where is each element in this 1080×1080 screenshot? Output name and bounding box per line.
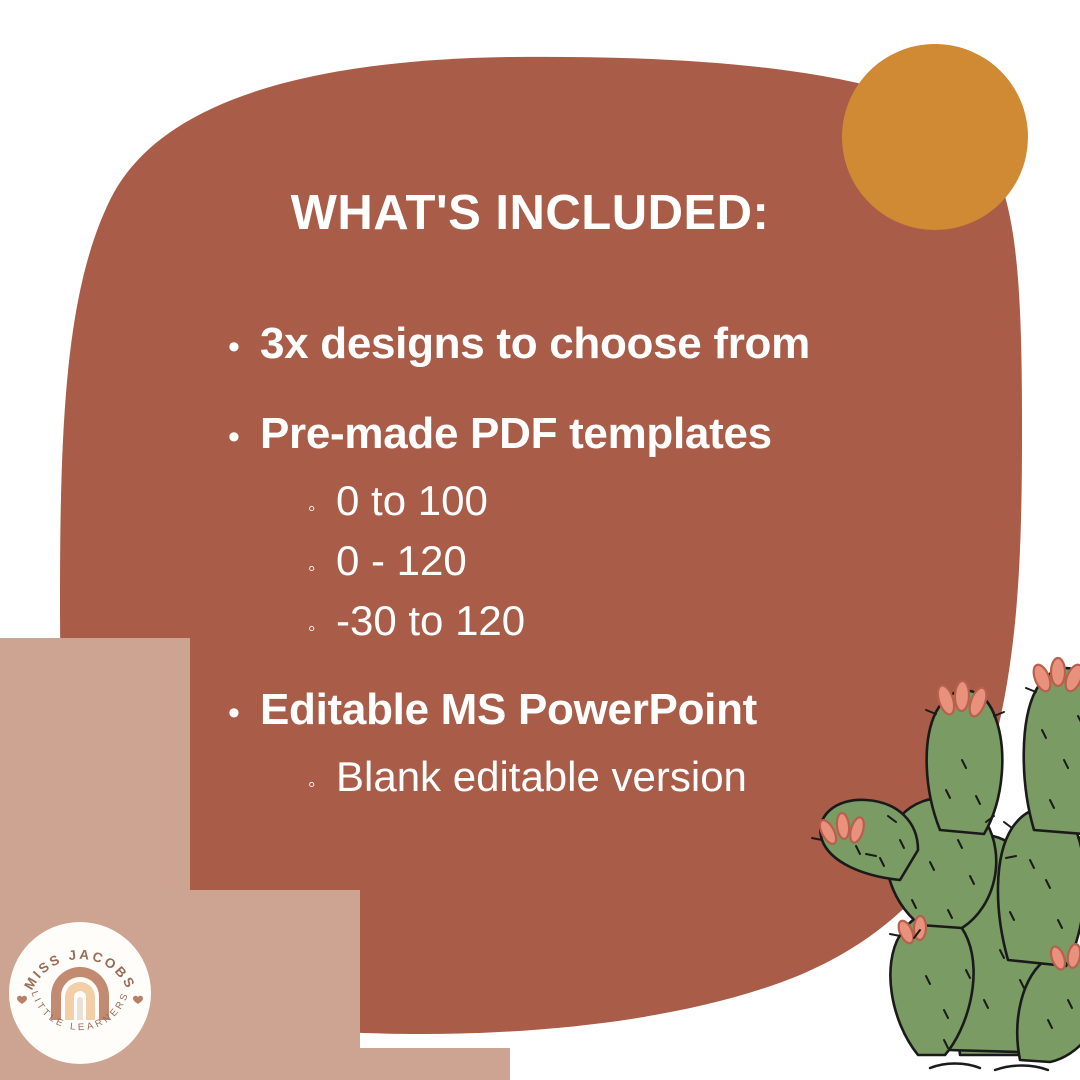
list-item-label: 3x designs to choose from	[260, 322, 810, 366]
sub-list-item: ◦ 0 - 120	[308, 540, 1038, 582]
sub-list-item-label: Blank editable version	[336, 756, 747, 798]
sub-list-item-label: 0 to 100	[336, 480, 488, 522]
hollow-bullet-icon: ◦	[308, 498, 336, 519]
bullet-dot-icon: •	[228, 330, 260, 364]
hollow-bullet-icon: ◦	[308, 774, 336, 795]
list-item: • 3x designs to choose from	[228, 322, 1038, 366]
hollow-bullet-icon: ◦	[308, 618, 336, 639]
list-item-label: Editable MS PowerPoint	[260, 688, 757, 732]
included-list: • 3x designs to choose from • Pre-made P…	[228, 322, 1038, 798]
logo-badge: MISS JACOBS LITTLE LEARNERS	[5, 918, 155, 1068]
bullet-dot-icon: •	[228, 696, 260, 730]
list-item-label: Pre-made PDF templates	[260, 412, 772, 456]
sub-list-item-label: -30 to 120	[336, 600, 525, 642]
list-item: • Pre-made PDF templates	[228, 412, 1038, 456]
sub-list-item: ◦ -30 to 120	[308, 600, 1038, 642]
sub-list-item: ◦ 0 to 100	[308, 480, 1038, 522]
page-title: WHAT'S INCLUDED:	[0, 185, 1060, 241]
sub-list-item: ◦ Blank editable version	[308, 756, 1038, 798]
bullet-dot-icon: •	[228, 420, 260, 454]
hollow-bullet-icon: ◦	[308, 558, 336, 579]
sub-list-item-label: 0 - 120	[336, 540, 467, 582]
graphic-canvas: MISS JACOBS LITTLE LEARNERS WHAT'S INCLU…	[0, 0, 1080, 1080]
list-item: • Editable MS PowerPoint	[228, 688, 1038, 732]
